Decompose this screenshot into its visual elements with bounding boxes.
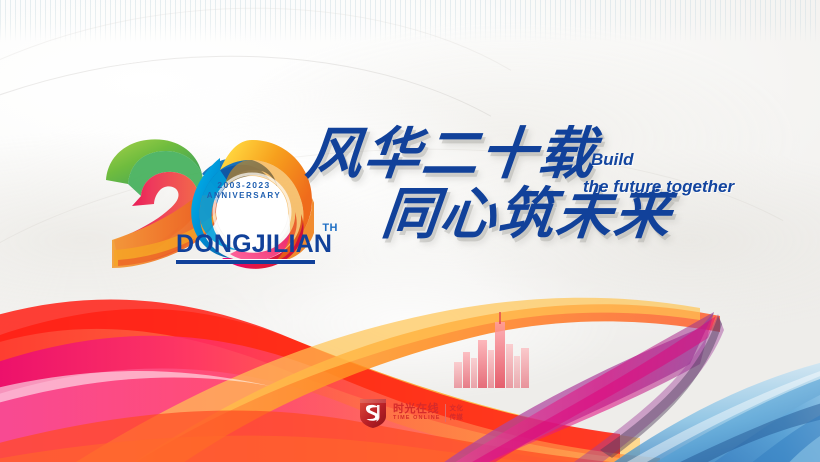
footer-brand-lockup: 时光在线 TIME ONLINE 文化 传媒 [358,397,463,429]
footer-brand-en: TIME ONLINE [393,415,441,422]
brand-underline [176,259,315,264]
footer-brand-cn: 时光在线 [393,404,441,416]
tagline-block: Build the future together [583,146,734,200]
footer-tag-line-2: 传媒 [450,413,464,422]
footer-tag-line-1: 文化 [450,404,464,413]
footer-brand-text: 时光在线 TIME ONLINE 文化 传媒 [393,404,463,423]
top-pinstripe-texture [0,0,820,42]
tagline-line-2: the future together [583,173,734,200]
tagline-line-1: Build [583,146,734,173]
ribbon-wave-decoration [0,272,820,462]
shield-icon [358,397,388,429]
footer-tagline: 文化 传媒 [450,404,464,423]
banner-canvas: 2003-2023 ANNIVERSARY DONGJILIAN TH 风华二十… [0,0,820,462]
brand-lockup: DONGJILIAN TH [176,232,316,264]
footer-divider [445,404,446,422]
brand-name: DONGJILIAN [176,232,316,257]
